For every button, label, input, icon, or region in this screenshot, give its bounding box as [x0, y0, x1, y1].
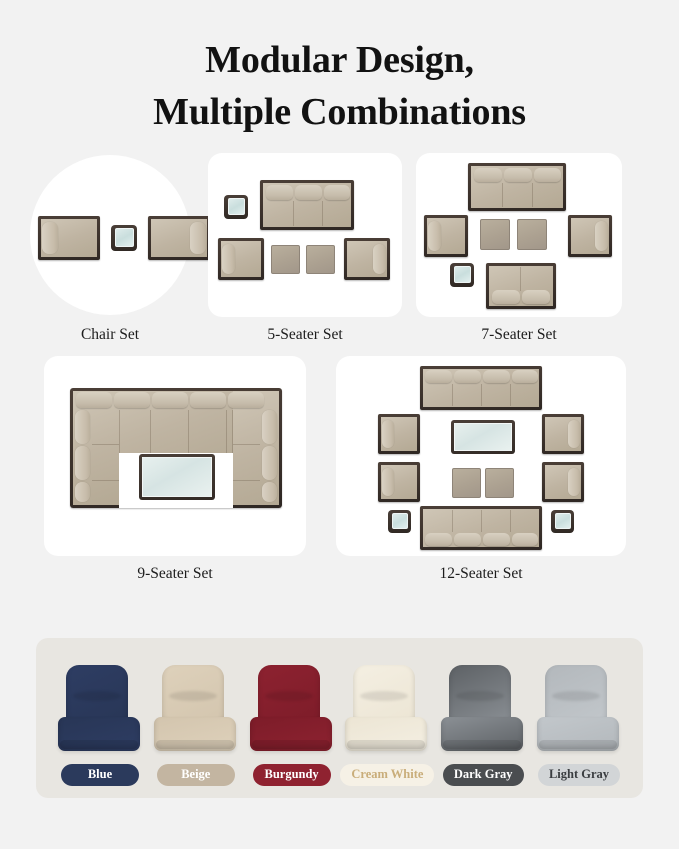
cushion-backrest	[353, 665, 415, 725]
chair-top-down	[344, 238, 390, 280]
chair-top-down	[218, 238, 264, 280]
page-title: Modular Design, Multiple Combinations	[0, 0, 679, 139]
cushion-preview	[441, 665, 525, 757]
9-seater-diagram	[44, 356, 306, 556]
color-label-pill[interactable]: Beige	[157, 764, 235, 786]
configuration-row-bottom: 9-Seater Set	[0, 356, 679, 583]
color-swatch-burgundy[interactable]: Burgundy	[246, 665, 338, 786]
ottoman	[480, 219, 510, 250]
cushion-seat	[345, 717, 427, 751]
chair-top-down	[542, 462, 584, 502]
cushion-preview	[345, 665, 429, 757]
cushion-seat	[250, 717, 332, 751]
chair-top-down	[148, 216, 210, 260]
sofa-4-seat-top-down	[420, 366, 542, 410]
cushion-preview	[154, 665, 238, 757]
5-seater-diagram	[208, 153, 402, 317]
cushion-backrest	[545, 665, 607, 725]
cushion-backrest	[162, 665, 224, 725]
color-swatch-beige[interactable]: Beige	[150, 665, 242, 786]
configuration-label: 5-Seater Set	[267, 326, 342, 344]
configuration-label: 9-Seater Set	[137, 565, 212, 583]
sofa-3-seat-top-down	[468, 163, 566, 211]
configuration-row-top: Chair Set	[0, 153, 679, 344]
ottoman	[485, 468, 514, 498]
configuration-chair-set[interactable]: Chair Set	[26, 153, 194, 344]
page-title-line-2: Multiple Combinations	[0, 86, 679, 138]
chair-top-down	[568, 215, 612, 257]
sofa-2-seat-top-down	[486, 263, 556, 309]
ottoman	[452, 468, 481, 498]
color-swatch-dark-gray[interactable]: Dark Gray	[437, 665, 529, 786]
color-label-pill[interactable]: Cream White	[340, 764, 434, 786]
chair-top-down	[424, 215, 468, 257]
chair-top-down	[378, 414, 420, 454]
ottoman	[271, 245, 300, 274]
configuration-7-seater-set[interactable]: 7-Seater Set	[416, 153, 622, 344]
chair-set-diagram	[26, 153, 194, 317]
cushion-preview	[537, 665, 621, 757]
configuration-9-seater-set[interactable]: 9-Seater Set	[44, 356, 306, 583]
side-table	[450, 263, 474, 287]
cushion-preview	[250, 665, 334, 757]
coffee-table	[451, 420, 515, 454]
cushion-seat	[441, 717, 523, 751]
12-seater-diagram	[336, 356, 626, 556]
color-label-pill[interactable]: Burgundy	[253, 764, 331, 786]
configuration-label: 7-Seater Set	[481, 326, 556, 344]
cushion-backrest	[258, 665, 320, 725]
configuration-12-seater-set[interactable]: 12-Seater Set	[336, 356, 626, 583]
color-label-pill[interactable]: Light Gray	[538, 764, 620, 786]
chair-top-down	[38, 216, 100, 260]
cushion-seat	[154, 717, 236, 751]
color-label-pill[interactable]: Blue	[61, 764, 139, 786]
chair-top-down	[378, 462, 420, 502]
side-table	[111, 225, 137, 251]
cushion-backrest	[66, 665, 128, 725]
sofa-4-seat-top-down	[420, 506, 542, 550]
color-swatch-cream-white[interactable]: Cream White	[341, 665, 433, 786]
cushion-seat	[58, 717, 140, 751]
configuration-5-seater-set[interactable]: 5-Seater Set	[208, 153, 402, 344]
page-title-line-1: Modular Design,	[0, 34, 679, 86]
cushion-preview	[58, 665, 142, 757]
ottoman	[306, 245, 335, 274]
coffee-table	[139, 454, 215, 500]
configuration-label: 12-Seater Set	[439, 565, 522, 583]
side-table	[551, 510, 574, 533]
color-swatch-blue[interactable]: Blue	[54, 665, 146, 786]
color-options-panel: Blue Beige Burgundy Cream White	[36, 638, 643, 798]
color-swatch-light-gray[interactable]: Light Gray	[533, 665, 625, 786]
cushion-backrest	[449, 665, 511, 725]
cushion-seat	[537, 717, 619, 751]
chair-top-down	[542, 414, 584, 454]
side-table	[224, 195, 248, 219]
7-seater-diagram	[416, 153, 622, 317]
color-label-pill[interactable]: Dark Gray	[443, 764, 524, 786]
ottoman	[517, 219, 547, 250]
sofa-3-seat-top-down	[260, 180, 354, 230]
side-table	[388, 510, 411, 533]
configuration-label: Chair Set	[81, 326, 139, 344]
